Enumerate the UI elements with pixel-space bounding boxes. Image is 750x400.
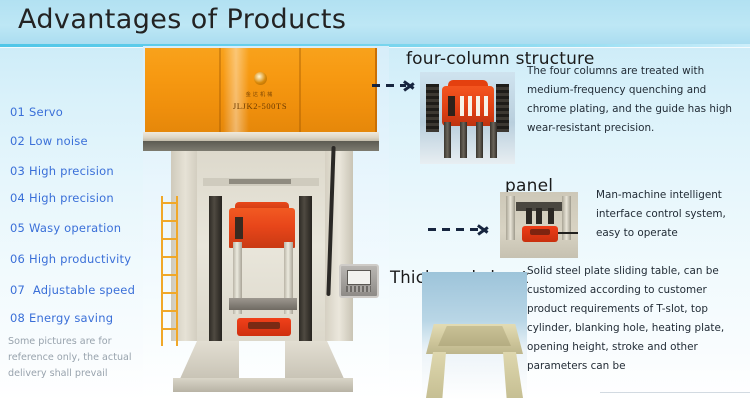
thumb-panel-pin	[536, 208, 542, 224]
thumb-ram-slot	[476, 96, 480, 116]
feature-label: Energy saving	[29, 311, 113, 325]
arrow-dashed-line	[372, 84, 406, 87]
page-title: Advantages of Products	[18, 4, 346, 35]
machine-access-ladder	[161, 196, 178, 346]
main-machine-photo: 金达机械 JLJK2-500TS	[143, 46, 389, 400]
feature-number: 03	[10, 164, 25, 178]
machine-control-panel	[339, 264, 379, 298]
machine-foot-left	[179, 341, 239, 381]
thumb-ram	[442, 86, 494, 126]
thumb-column	[476, 122, 483, 158]
thumb-ram-recess	[448, 96, 455, 116]
thumb-ram-slot	[484, 96, 488, 116]
feature-item-08: 08Energy saving	[10, 311, 113, 325]
crown-underside	[143, 132, 379, 141]
ladder-rung	[161, 310, 178, 312]
ladder-rail	[161, 196, 163, 346]
feature-item-01: 01Servo	[10, 105, 63, 119]
thumb-sheet-face	[438, 326, 511, 346]
feature-label: High precision	[29, 191, 114, 205]
callout-body-panel: Man-machine intelligent interface contro…	[596, 186, 748, 243]
thumb-sheet-leg-left	[426, 352, 446, 398]
ladder-rung	[161, 202, 178, 204]
feature-item-02: 02Low noise	[10, 134, 88, 148]
ladder-rung	[161, 220, 178, 222]
machine-nameplate	[203, 178, 319, 186]
thumb-panel-wire	[558, 232, 578, 234]
machine-crown-housing: 金达机械 JLJK2-500TS	[145, 48, 377, 134]
machine-bolster	[229, 298, 297, 310]
logo-mark-icon	[254, 72, 267, 85]
thumb-panel-pin	[526, 208, 532, 224]
hmi-screen	[347, 270, 371, 285]
machine-base-plate	[173, 378, 353, 392]
thumb-side-block	[426, 84, 439, 132]
feature-label: Adjustable speed	[33, 283, 135, 297]
callout-body-thickened-sheet: Solid steel plate sliding table, can be …	[527, 262, 747, 376]
thumb-sheet-leg-right	[503, 352, 523, 398]
ladder-rung	[161, 238, 178, 240]
ram-recess	[235, 217, 243, 239]
feature-number: 06	[10, 252, 25, 266]
feature-label: Wasy operation	[29, 221, 121, 235]
panel-thumbnail	[500, 192, 578, 258]
thumb-panel-rail-left	[506, 196, 515, 240]
arrow-head-icon	[404, 78, 415, 92]
machine-red-base-block	[237, 318, 291, 336]
callout-arrow-1	[372, 78, 418, 92]
feature-number: 01	[10, 105, 25, 119]
callout-arrow-2	[428, 222, 490, 236]
feature-number: 04	[10, 191, 25, 205]
feature-item-07: 07 Adjustable speed	[10, 283, 135, 297]
feature-item-04: 04High precision	[10, 191, 114, 205]
ladder-rail	[176, 196, 178, 346]
brand-name-cn: 金达机械	[145, 91, 375, 98]
arrow-head-icon	[478, 222, 489, 236]
bottom-cut-line	[600, 392, 750, 393]
nameplate-text-strip	[229, 179, 291, 184]
feature-item-06: 06High productivity	[10, 252, 131, 266]
feature-number: 08	[10, 311, 25, 325]
feature-number: 07	[10, 283, 25, 297]
thumb-panel-pin	[548, 208, 554, 224]
ladder-rung	[161, 274, 178, 276]
crown-shadow	[143, 141, 379, 151]
hmi-keypad	[346, 286, 371, 292]
thumb-column	[460, 122, 467, 158]
ladder-rung	[161, 256, 178, 258]
guide-column-left	[209, 196, 222, 341]
feature-number: 02	[10, 134, 25, 148]
brand-logo: 金达机械	[145, 72, 375, 98]
ladder-rung	[161, 292, 178, 294]
slide-root: Advantages of Products 01Servo 02Low noi…	[0, 0, 750, 400]
machine-foot-right	[285, 341, 345, 381]
thickened-sheet-thumbnail	[422, 272, 527, 400]
feature-item-05: 05Wasy operation	[10, 221, 121, 235]
thumb-side-block	[496, 84, 509, 132]
feature-label: Servo	[29, 105, 63, 119]
thumb-column	[444, 122, 451, 158]
thumb-ram-slot	[460, 96, 464, 116]
arrow-dashed-line	[428, 228, 480, 231]
feature-label: Low noise	[29, 134, 88, 148]
ladder-rung	[161, 328, 178, 330]
guide-column-right	[299, 196, 312, 341]
thumb-ram-slot	[468, 96, 472, 116]
thumb-column	[490, 122, 497, 158]
feature-number: 05	[10, 221, 25, 235]
callout-body-four-column-structure: The four columns are treated with medium…	[527, 62, 741, 138]
thumb-panel-red-block	[522, 226, 558, 242]
machine-model-number: JLJK2-500TS	[145, 101, 375, 111]
four-column-structure-thumbnail	[420, 72, 515, 164]
disclaimer-text: Some pictures are for reference only, th…	[8, 334, 160, 382]
feature-item-03: 03High precision	[10, 164, 114, 178]
feature-label: High productivity	[29, 252, 131, 266]
feature-label: High precision	[29, 164, 114, 178]
